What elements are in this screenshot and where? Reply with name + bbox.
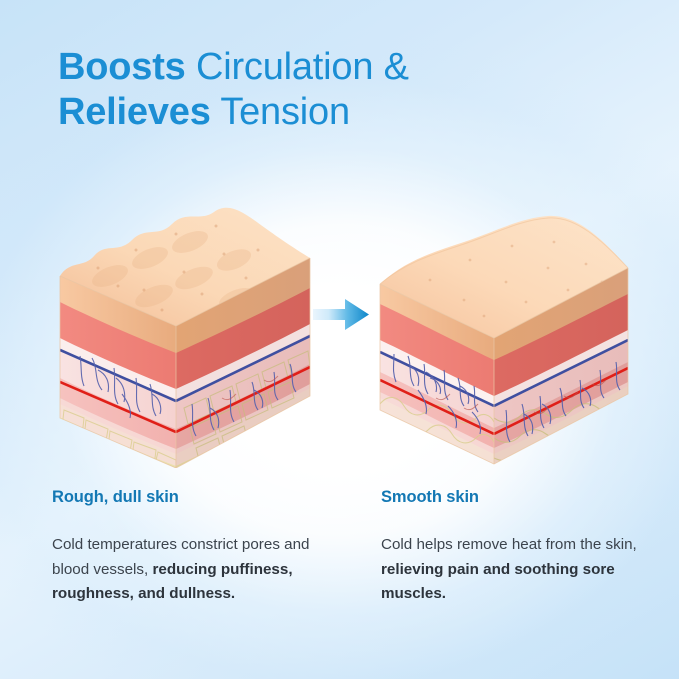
headline-space-2 [211,91,221,133]
skin-diagram-smooth [378,212,630,470]
body-text-left: Cold temperatures constrict pores and bl… [52,533,342,607]
headline-light-tension: Tension [220,91,350,133]
headline-line-2: Relieves Tension [58,90,409,135]
body-right-normal: Cold helps remove heat from the skin, [381,536,637,553]
column-left: Rough, dull skin Cold temperatures const… [52,488,342,607]
body-right-bold: relieving pain and soothing sore muscles… [381,561,615,603]
right-arrow-icon [312,297,370,332]
body-text-right: Cold helps remove heat from the skin, re… [381,533,661,607]
headline-line-1: Boosts Circulation & [58,45,409,90]
headline-bold-boosts: Boosts [58,46,186,88]
headline-bold-relieves: Relieves [58,91,211,133]
infographic-page: Boosts Circulation & Relieves Tension [0,0,679,679]
page-title: Boosts Circulation & Relieves Tension [58,45,409,135]
headline-light-circulation [186,46,196,88]
subtitle-smooth-skin: Smooth skin [381,488,661,507]
headline-light-circulation-text: Circulation & [196,46,409,88]
column-right: Smooth skin Cold helps remove heat from … [381,488,661,607]
skin-diagram-rough [58,198,312,468]
subtitle-rough-dull-skin: Rough, dull skin [52,488,342,507]
